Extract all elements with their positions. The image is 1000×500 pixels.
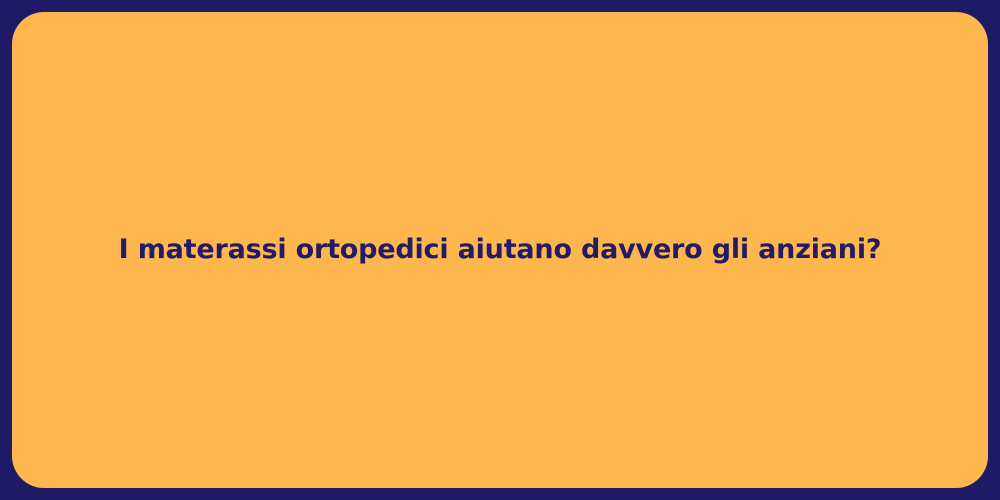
headline-card: I materassi ortopedici aiutano davvero g… [12,12,988,488]
banner-root: I materassi ortopedici aiutano davvero g… [0,0,1000,500]
page-title: I materassi ortopedici aiutano davvero g… [59,233,942,267]
